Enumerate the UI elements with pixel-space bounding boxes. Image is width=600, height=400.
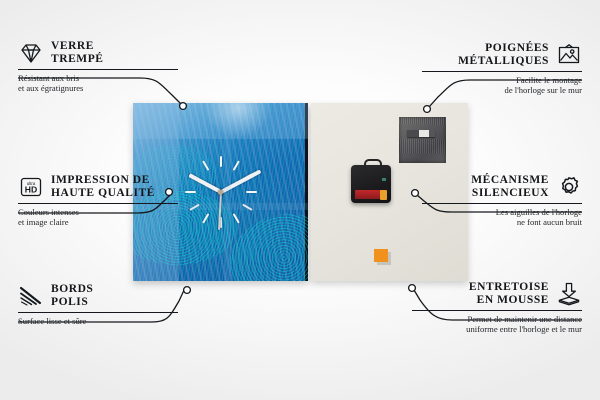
- foam-spacer: [374, 249, 388, 262]
- highlight-glow: [203, 103, 273, 139]
- diamond-icon: [18, 41, 44, 65]
- callout-impression-hd[interactable]: ultra HD IMPRESSION DE HAUTE QUALITÉ Cou…: [18, 174, 178, 227]
- title-underline: [422, 203, 582, 204]
- polished-edges-icon: [18, 284, 44, 308]
- callout-title: MÉCANISME SILENCIEUX: [471, 174, 549, 199]
- callout-description: Les aiguilles de l'horloge ne font aucun…: [422, 207, 582, 227]
- hanger-slot: [407, 130, 435, 137]
- clock-minute-hand: [220, 169, 261, 193]
- title-underline: [412, 310, 582, 311]
- ultra-hd-icon: ultra HD: [18, 175, 44, 199]
- callout-header: ultra HD IMPRESSION DE HAUTE QUALITÉ: [18, 174, 178, 199]
- callout-entretoise-en-mousse[interactable]: ENTRETOISE EN MOUSSE Permet de maintenir…: [412, 281, 582, 334]
- moire-swirl: [220, 203, 308, 281]
- gear-icon: [556, 175, 582, 199]
- title-underline: [18, 69, 178, 70]
- hanging-frame-icon: [556, 43, 582, 67]
- callout-header: BORDS POLIS: [18, 283, 178, 308]
- clock-second-hand: [218, 190, 222, 230]
- callout-verre-trempe[interactable]: VERRE TREMPÉ Résistant aux bris et aux é…: [18, 40, 178, 93]
- title-underline: [422, 71, 582, 72]
- mechanism-terminal: [382, 178, 386, 181]
- callout-poignees-metalliques[interactable]: POIGNÉES MÉTALLIQUES Facilite le montage…: [422, 42, 582, 95]
- title-underline: [18, 203, 178, 204]
- callout-title: POIGNÉES MÉTALLIQUES: [458, 42, 549, 67]
- callout-title: ENTRETOISE EN MOUSSE: [469, 281, 549, 306]
- connector-dot-bords-polis: [184, 287, 191, 294]
- callout-title: VERRE TREMPÉ: [51, 40, 104, 65]
- callout-description: Permet de maintenir une distance uniform…: [412, 314, 582, 334]
- clock-hour-hand: [188, 173, 222, 193]
- quartz-mechanism: [351, 165, 391, 203]
- callout-description: Couleurs intenses et image claire: [18, 207, 178, 227]
- arrow-onto-layer-icon: [556, 282, 582, 306]
- callout-header: ENTRETOISE EN MOUSSE: [412, 281, 582, 306]
- product-photo: [133, 103, 468, 281]
- infographic-canvas: VERRE TREMPÉ Résistant aux bris et aux é…: [0, 0, 600, 400]
- title-underline: [18, 312, 178, 313]
- callout-bords-polis[interactable]: BORDS POLIS Surface lisse et sûre: [18, 283, 178, 326]
- callout-header: VERRE TREMPÉ: [18, 40, 178, 65]
- callout-title: BORDS POLIS: [51, 283, 93, 308]
- callout-title: IMPRESSION DE HAUTE QUALITÉ: [51, 174, 155, 199]
- mechanism-hanging-lug: [364, 159, 382, 170]
- callout-header: POIGNÉES MÉTALLIQUES: [422, 42, 582, 67]
- callout-mecanisme-silencieux[interactable]: MÉCANISME SILENCIEUX Les aiguilles de l'…: [422, 174, 582, 227]
- battery-plus-marker: [380, 190, 387, 200]
- callout-description: Facilite le montage de l'horloge sur le …: [422, 75, 582, 95]
- metal-hanger-plate: [399, 117, 446, 163]
- ultra-hd-icon-main-text: HD: [25, 184, 37, 194]
- callout-description: Surface lisse et sûre: [18, 316, 178, 326]
- callout-header: MÉCANISME SILENCIEUX: [422, 174, 582, 199]
- callout-description: Résistant aux bris et aux égratignures: [18, 73, 178, 93]
- clock-hand-hub: [218, 190, 223, 195]
